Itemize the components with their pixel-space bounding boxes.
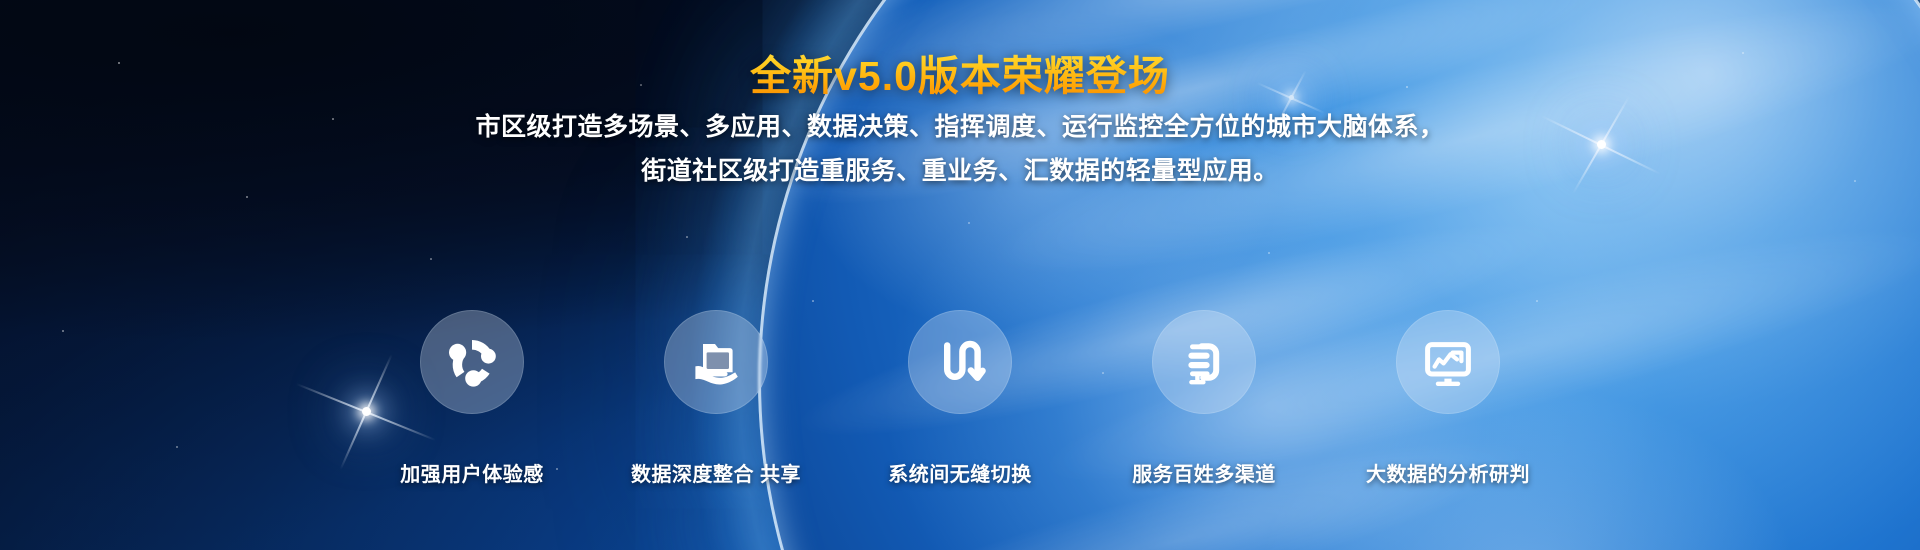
feature-label: 系统间无缝切换 — [888, 458, 1032, 487]
subtitle-line-2: 街道社区级打造重服务、重业务、汇数据的轻量型应用。 — [0, 149, 1920, 193]
feature-item-big-data-analysis[interactable]: 大数据的分析研判 — [1326, 310, 1570, 487]
feature-icon-bubble — [420, 310, 524, 414]
subtitle-line-1: 市区级打造多场景、多应用、数据决策、指挥调度、运行监控全方位的城市大脑体系， — [0, 105, 1920, 149]
feature-label: 大数据的分析研判 — [1366, 458, 1530, 487]
feature-icon-bubble — [1396, 310, 1500, 414]
promo-banner: 全新v5.0版本荣耀登场 市区级打造多场景、多应用、数据决策、指挥调度、运行监控… — [0, 0, 1920, 550]
feature-label: 数据深度整合 共享 — [631, 458, 801, 487]
feature-icon-bubble — [1152, 310, 1256, 414]
feature-item-data-integration[interactable]: 数据深度整合 共享 — [594, 310, 838, 487]
feature-item-service-channels[interactable]: 服务百姓多渠道 — [1082, 310, 1326, 487]
feature-label: 服务百姓多渠道 — [1132, 458, 1276, 487]
feature-item-user-experience[interactable]: 加强用户体验感 — [350, 310, 594, 487]
share-network-icon — [442, 332, 502, 392]
feature-label: 加强用户体验感 — [400, 458, 544, 487]
feature-icon-bubble — [664, 310, 768, 414]
winding-path-icon — [930, 332, 990, 392]
subtitle: 市区级打造多场景、多应用、数据决策、指挥调度、运行监控全方位的城市大脑体系， 街… — [0, 105, 1920, 193]
feature-icon-bubble — [908, 310, 1012, 414]
service-channel-icon — [1175, 333, 1233, 391]
monitor-chart-icon — [1418, 332, 1478, 392]
feature-item-seamless-switching[interactable]: 系统间无缝切换 — [838, 310, 1082, 487]
feature-list: 加强用户体验感 数据深度整合 共享 — [0, 310, 1920, 487]
folder-in-hand-icon — [685, 331, 747, 393]
page-title: 全新v5.0版本荣耀登场 — [0, 42, 1920, 102]
